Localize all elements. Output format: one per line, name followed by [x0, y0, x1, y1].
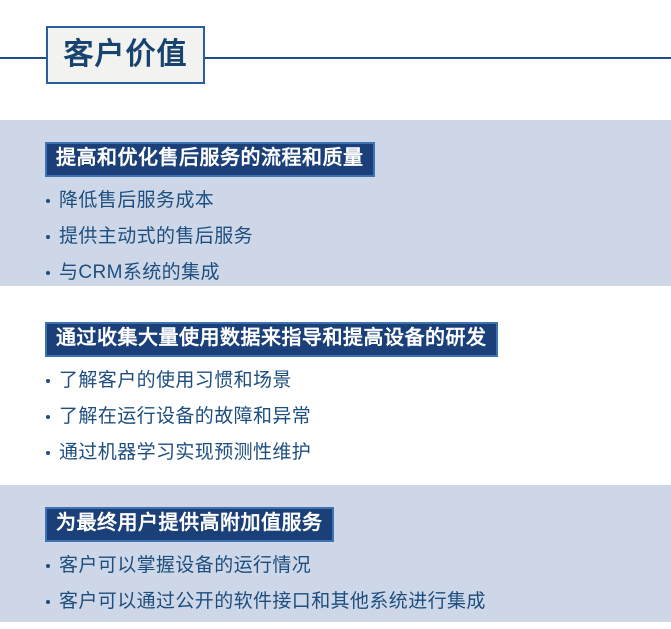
list-item: 降低售后服务成本	[45, 186, 671, 216]
section-data-rnd: 通过收集大量使用数据来指导和提高设备的研发 了解客户的使用习惯和场景 了解在运行…	[0, 300, 671, 474]
list-item: 客户可以掌握设备的运行情况	[45, 551, 671, 581]
page-header: 客户价值	[0, 0, 671, 118]
section-1-bullet-list: 降低售后服务成本 提供主动式的售后服务 与CRM系统的集成	[0, 186, 671, 288]
section-end-user-value: 为最终用户提供高附加值服务 客户可以掌握设备的运行情况 客户可以通过公开的软件接…	[0, 485, 671, 623]
list-item: 了解客户的使用习惯和场景	[45, 366, 671, 396]
section-3-bullet-list: 客户可以掌握设备的运行情况 客户可以通过公开的软件接口和其他系统进行集成	[0, 551, 671, 617]
section-customer-service: 提高和优化售后服务的流程和质量 降低售后服务成本 提供主动式的售后服务 与CRM…	[0, 120, 671, 294]
list-item: 与CRM系统的集成	[45, 258, 671, 288]
list-item: 客户可以通过公开的软件接口和其他系统进行集成	[45, 587, 671, 617]
section-1-heading: 提高和优化售后服务的流程和质量	[45, 142, 375, 177]
section-2-heading: 通过收集大量使用数据来指导和提高设备的研发	[45, 322, 498, 357]
page-title-box: 客户价值	[46, 26, 205, 84]
list-item: 了解在运行设备的故障和异常	[45, 402, 671, 432]
slide-page: 客户价值 提高和优化售后服务的流程和质量 降低售后服务成本 提供主动式的售后服务…	[0, 0, 671, 629]
page-title: 客户价值	[64, 40, 188, 70]
section-3-heading: 为最终用户提供高附加值服务	[45, 507, 334, 542]
list-item: 提供主动式的售后服务	[45, 222, 671, 252]
list-item: 通过机器学习实现预测性维护	[45, 438, 671, 468]
section-2-bullet-list: 了解客户的使用习惯和场景 了解在运行设备的故障和异常 通过机器学习实现预测性维护	[0, 366, 671, 468]
